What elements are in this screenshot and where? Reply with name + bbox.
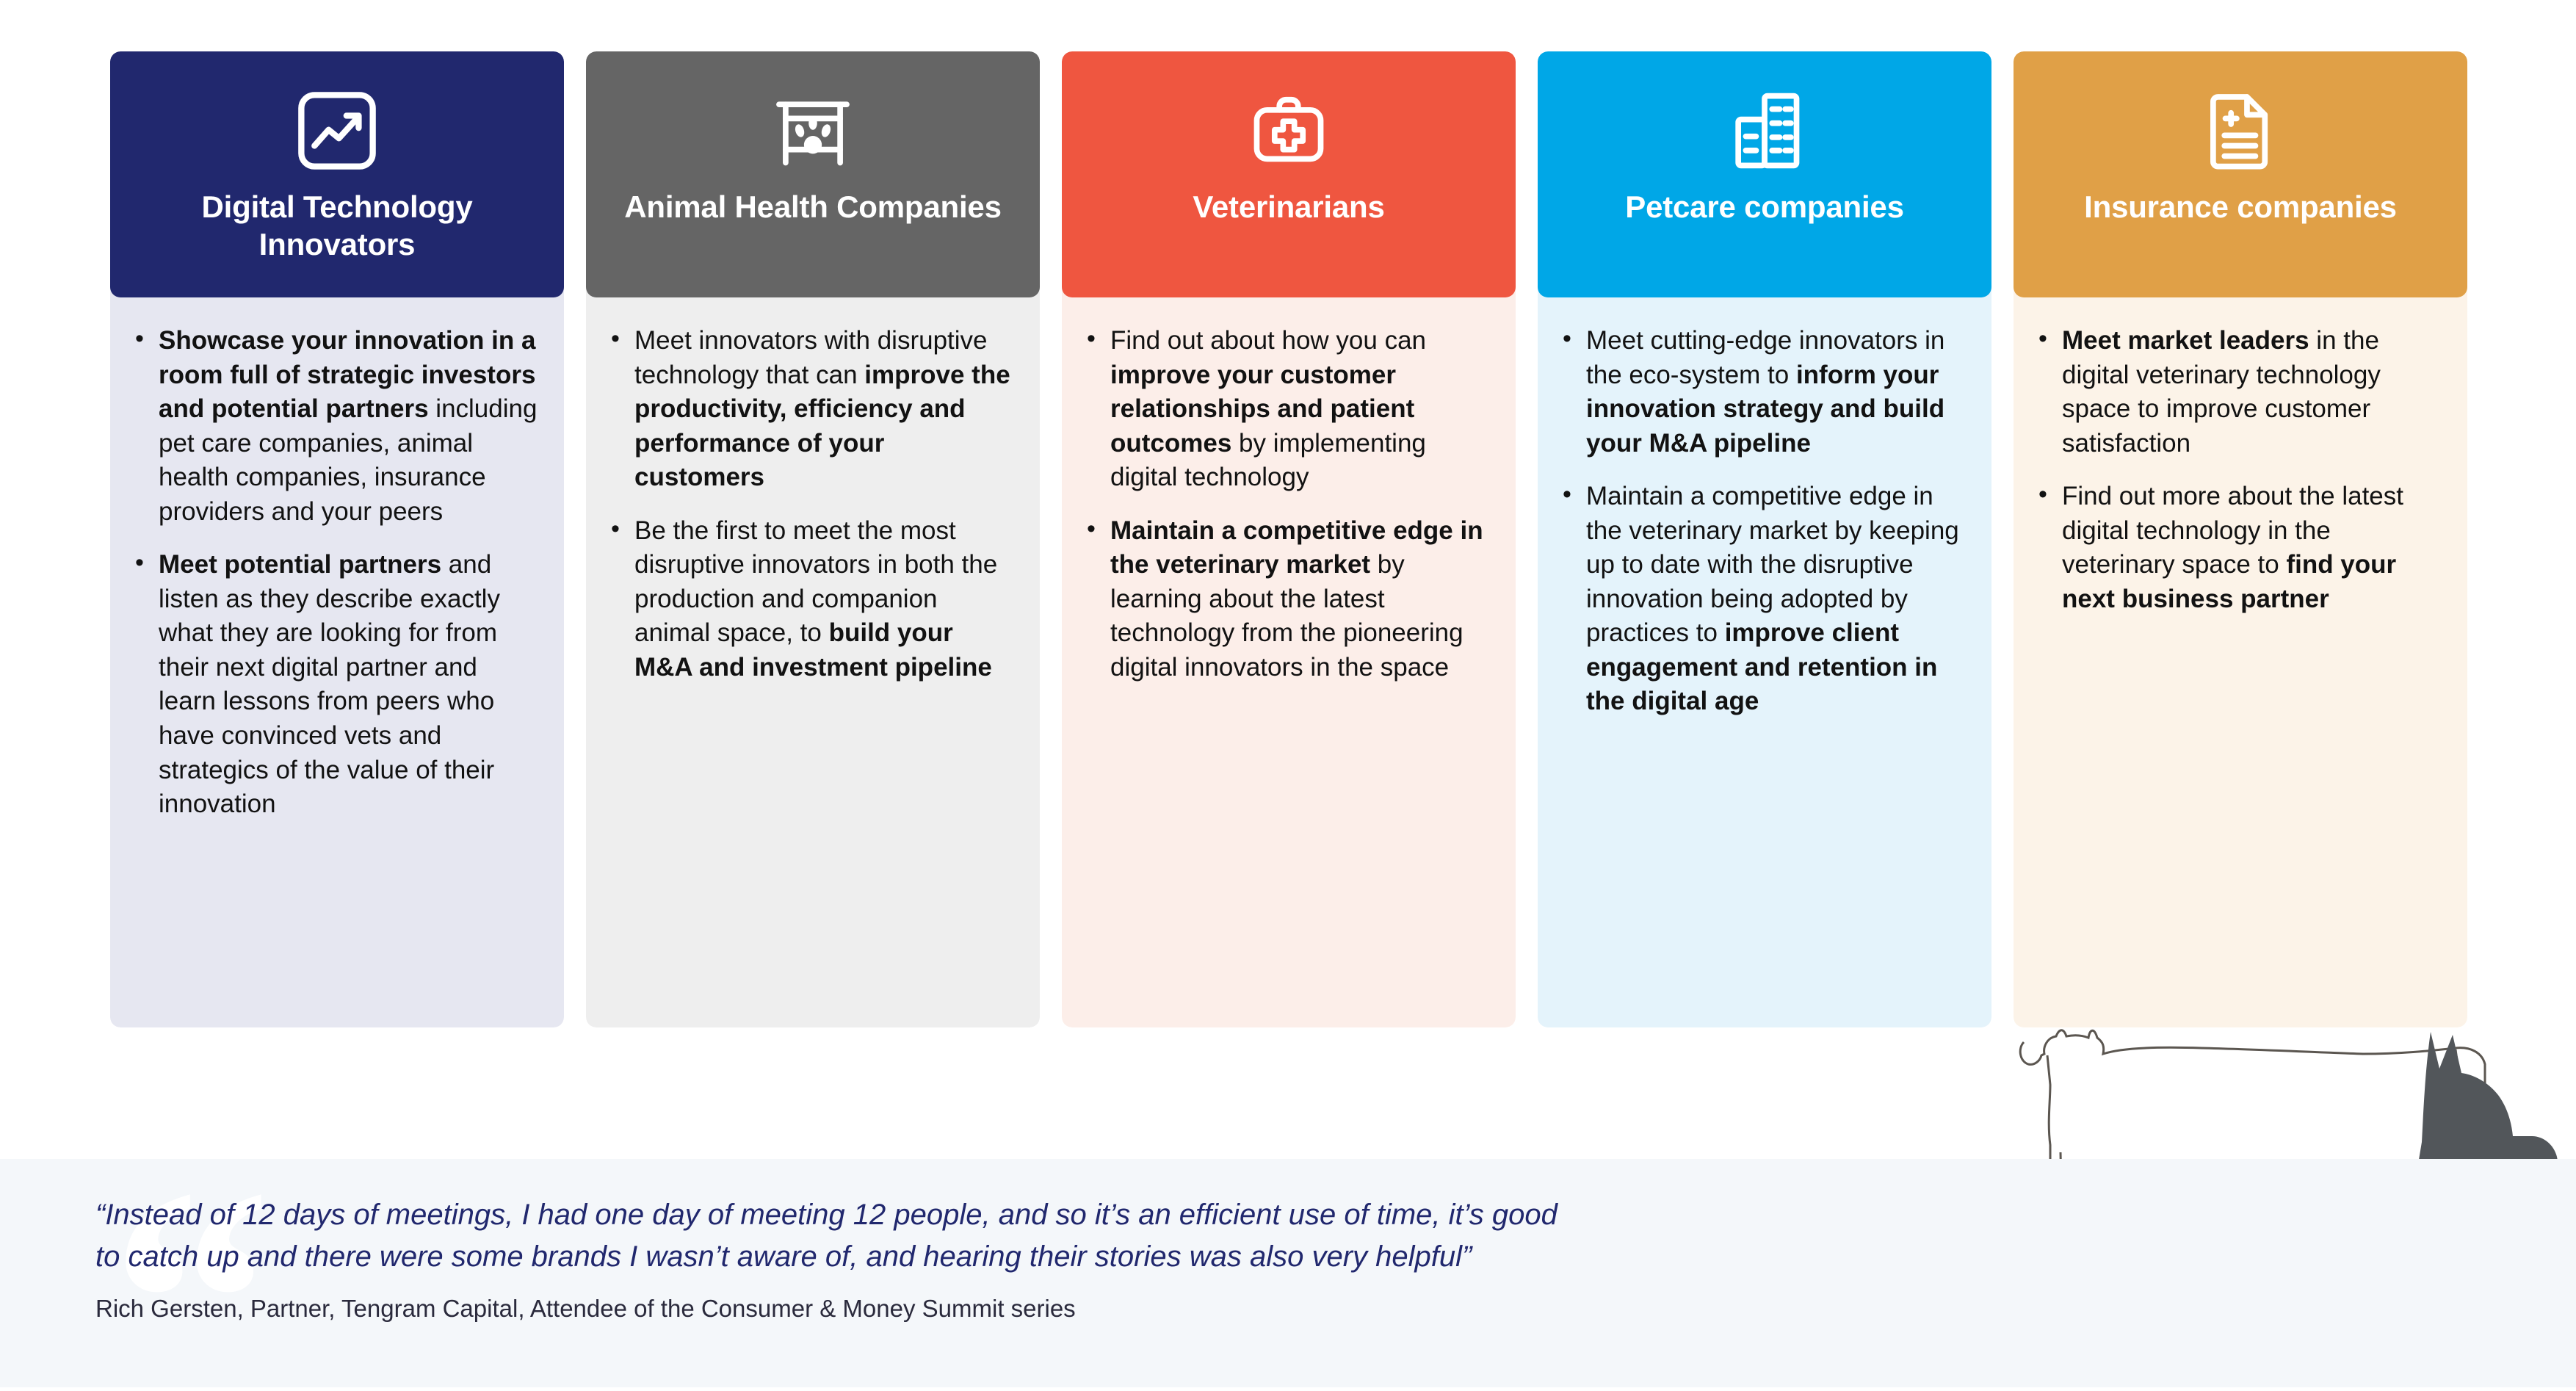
- card-digital-technology-innovators[interactable]: Digital Technology Innovators Showcase y…: [110, 51, 564, 1027]
- medical-bag-cross-icon: [1242, 84, 1336, 178]
- testimonial-attribution: Rich Gersten, Partner, Tengram Capital, …: [95, 1295, 2005, 1323]
- card-title: Digital Technology Innovators: [110, 188, 564, 263]
- card-animal-health-companies[interactable]: Animal Health Companies Meet innovators …: [586, 51, 1040, 1027]
- bullet-item: Meet market leaders in the digital veter…: [2033, 324, 2442, 460]
- card-body: Meet innovators with disruptive technolo…: [586, 286, 1040, 1027]
- card-title: Veterinarians: [1178, 188, 1399, 225]
- bullet-item: Find out more about the latest digital t…: [2033, 480, 2442, 616]
- card-header: Digital Technology Innovators: [110, 51, 564, 297]
- card-petcare-companies[interactable]: Petcare companies Meet cutting-edge inno…: [1538, 51, 1991, 1027]
- bullet-item: Meet innovators with disruptive technolo…: [605, 324, 1015, 495]
- bullet-item: Meet cutting-edge innovators in the eco-…: [1557, 324, 1967, 460]
- audience-card-grid: Digital Technology Innovators Showcase y…: [110, 51, 2467, 1102]
- office-buildings-icon: [1718, 84, 1812, 178]
- card-title: Animal Health Companies: [609, 188, 1016, 225]
- bullet-item: Be the first to meet the most disruptive…: [605, 514, 1015, 685]
- bullet-item: Find out about how you can improve your …: [1081, 324, 1491, 495]
- card-header: Insurance companies: [2014, 51, 2467, 297]
- claim-document-plus-icon: [2193, 84, 2287, 178]
- card-body: Showcase your innovation in a room full …: [110, 286, 564, 1027]
- bullet-item: Maintain a competitive edge in the veter…: [1557, 480, 1967, 719]
- bullet-item: Meet potential partners and listen as th…: [129, 548, 539, 821]
- quote-line-1: “Instead of 12 days of meetings, I had o…: [95, 1194, 2005, 1236]
- card-body: Meet cutting-edge innovators in the eco-…: [1538, 286, 1991, 1027]
- card-title: Petcare companies: [1610, 188, 1918, 225]
- testimonial-quote: “Instead of 12 days of meetings, I had o…: [95, 1194, 2005, 1278]
- chart-growth-arrow-icon: [290, 84, 384, 178]
- quote-line-2: to catch up and there were some brands I…: [95, 1236, 2005, 1278]
- card-veterinarians[interactable]: Veterinarians Find out about how you can…: [1062, 51, 1516, 1027]
- card-body: Meet market leaders in the digital veter…: [2014, 286, 2467, 1027]
- card-insurance-companies[interactable]: Insurance companies Meet market leaders …: [2014, 51, 2467, 1027]
- animal-pen-paw-icon: [766, 84, 860, 178]
- bullet-item: Showcase your innovation in a room full …: [129, 324, 539, 529]
- card-body: Find out about how you can improve your …: [1062, 286, 1516, 1027]
- card-header: Petcare companies: [1538, 51, 1991, 297]
- bullet-item: Maintain a competitive edge in the veter…: [1081, 514, 1491, 685]
- card-title: Insurance companies: [2069, 188, 2412, 225]
- card-header: Veterinarians: [1062, 51, 1516, 297]
- card-header: Animal Health Companies: [586, 51, 1040, 297]
- testimonial-band: “ “Instead of 12 days of meetings, I had…: [0, 1159, 2576, 1387]
